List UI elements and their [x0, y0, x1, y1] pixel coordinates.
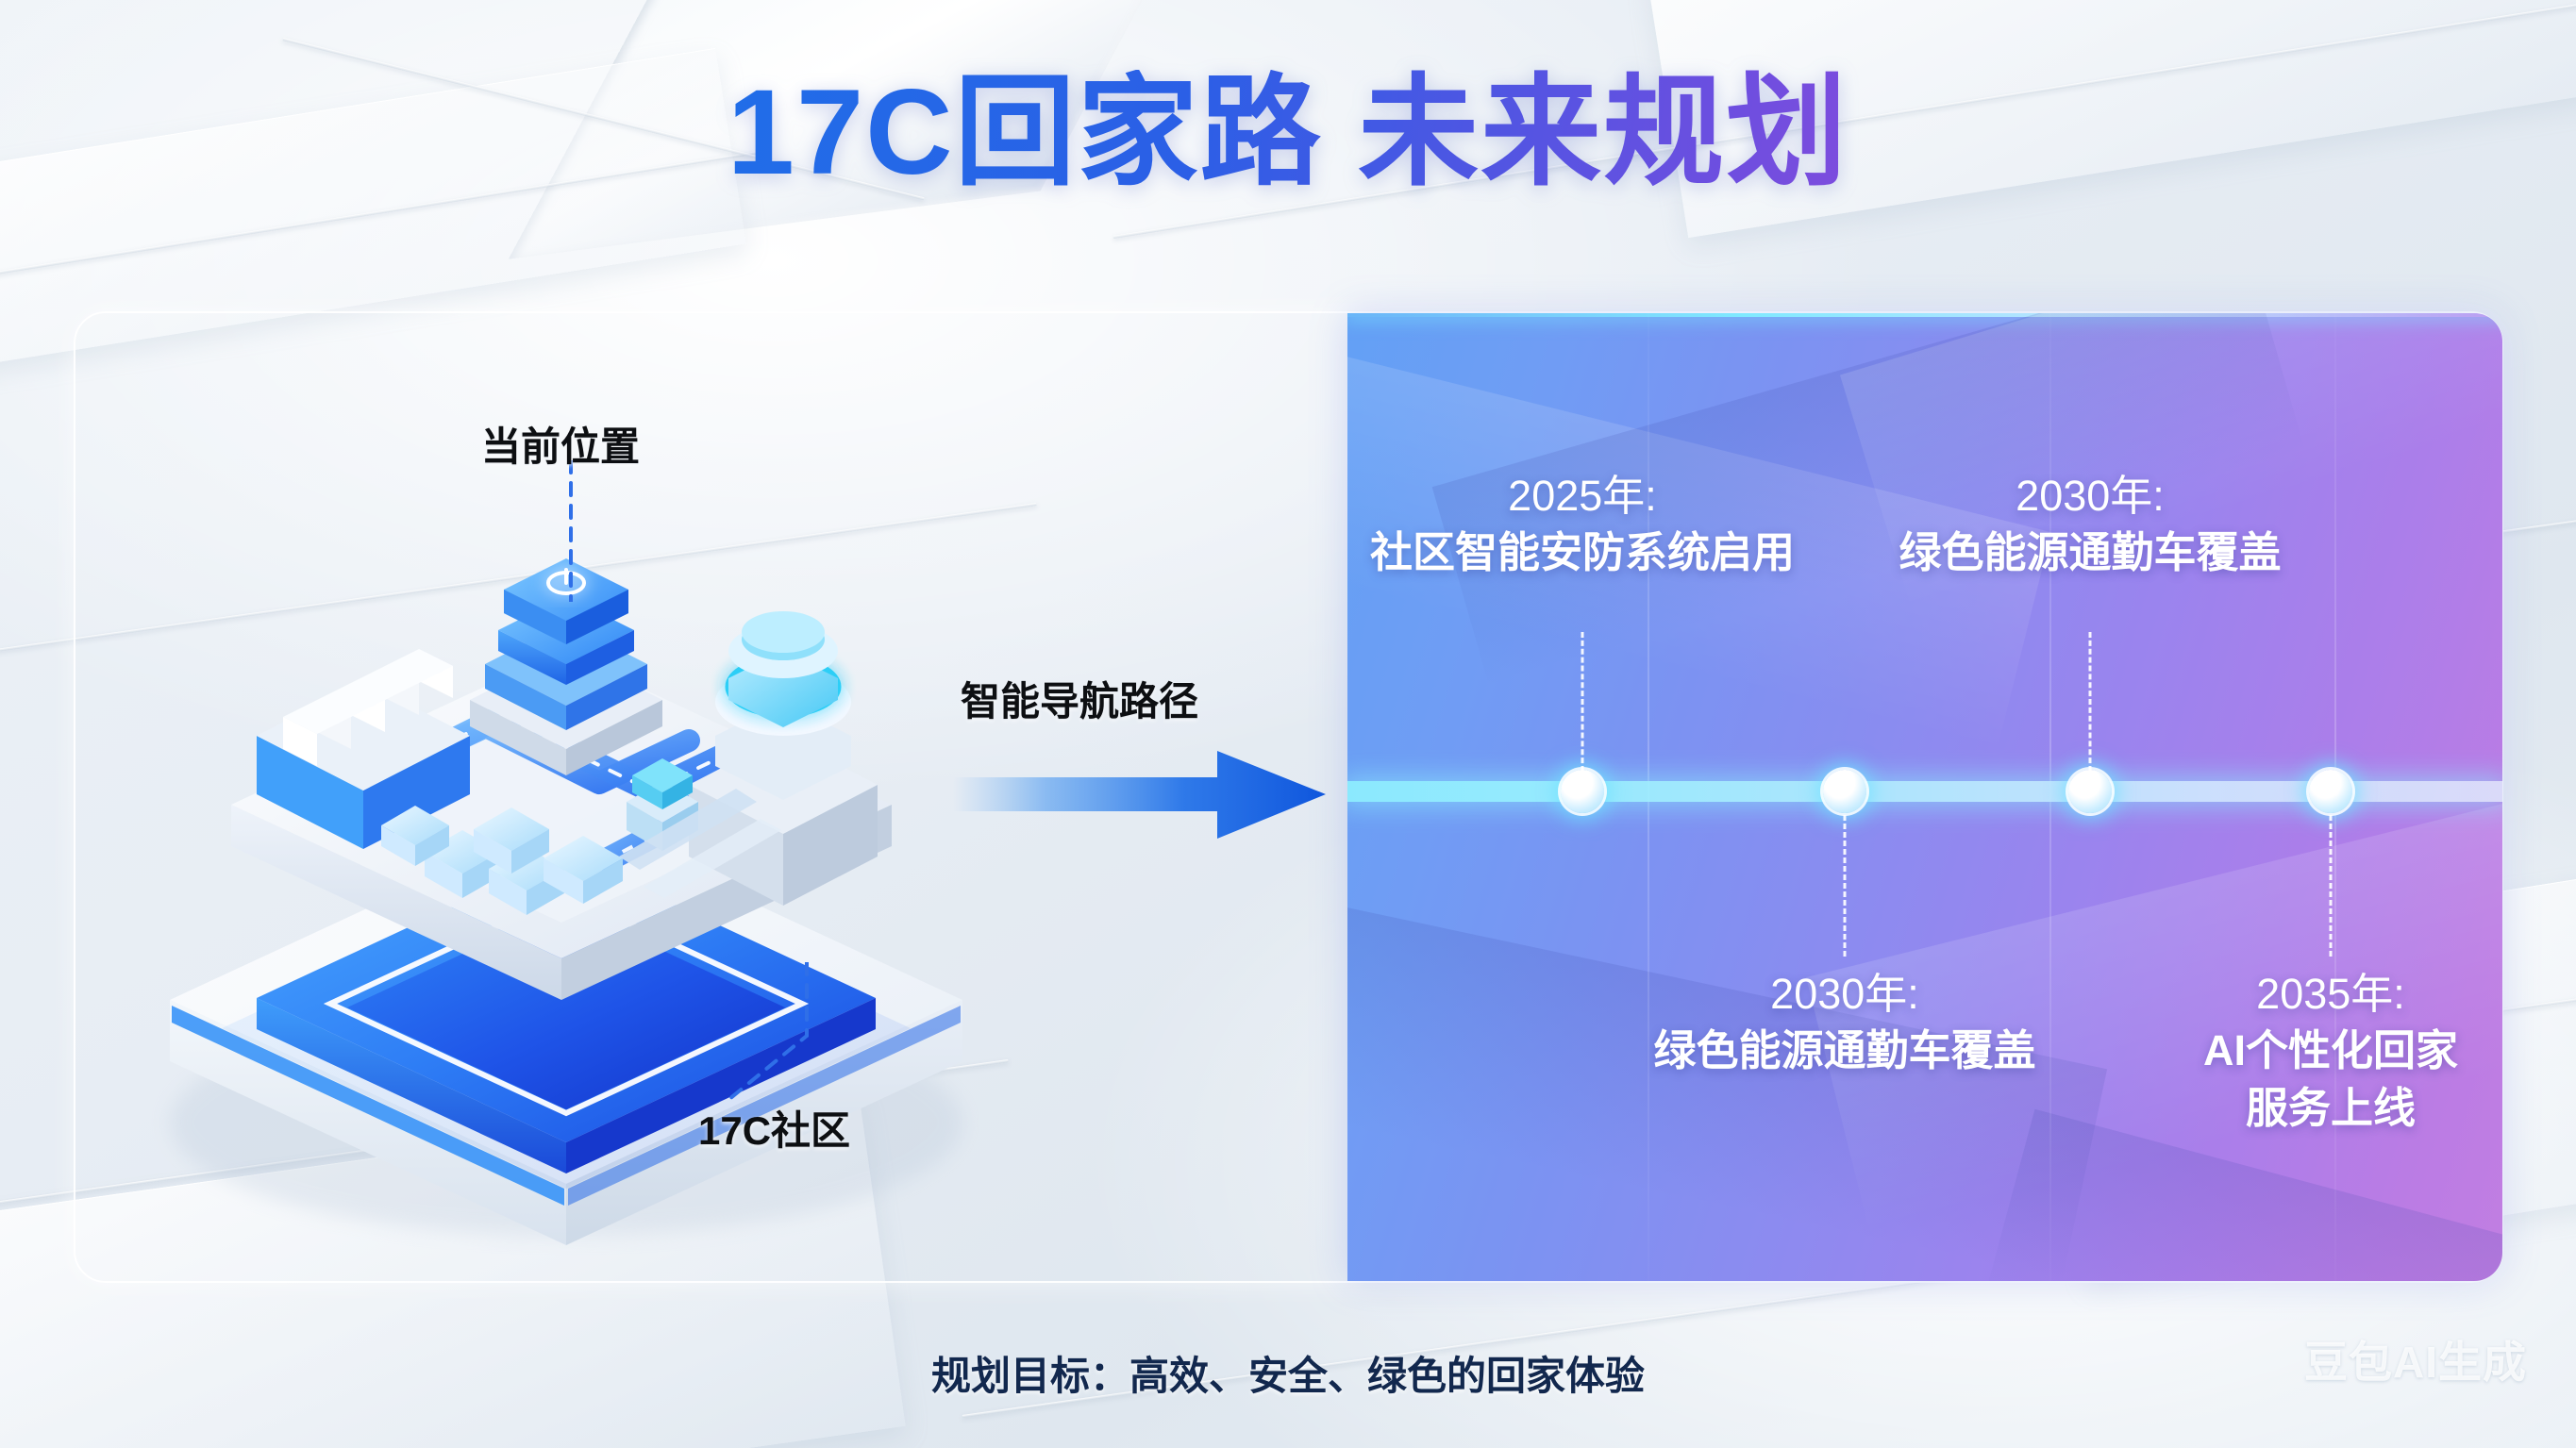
timeline-entry-3-desc: 绿色能源通勤车覆盖 [1899, 524, 2281, 581]
timeline-entry-1-year: 2025年: [1370, 468, 1795, 524]
page-title: 17C回家路 未来规划 [0, 70, 2576, 195]
timeline-node-2[interactable] [1823, 770, 1866, 813]
timeline-node-3[interactable] [2068, 770, 2112, 813]
label-current-location: 当前位置 [481, 415, 640, 473]
timeline-node-4[interactable] [2309, 770, 2352, 813]
arrow-right-icon [953, 745, 1326, 844]
timeline-entry-4-desc-line1: AI个性化回家 [2203, 1023, 2458, 1079]
timeline-entry-1-desc-line1: 社区智能安防系统启用 [1370, 524, 1795, 581]
label-nav-path: 智能导航路径 [961, 670, 1198, 727]
timeline-entry-1: 2025年: 社区智能安防系统启用 [1370, 468, 1795, 582]
timeline-entry-4-desc-line2: 服务上线 [2203, 1080, 2458, 1137]
timeline-stem-2 [1844, 815, 1847, 957]
background-stage: 17C回家路 未来规划 [0, 0, 2576, 1448]
label-community: 17C社区 [698, 1099, 850, 1157]
timeline-entry-2-desc: 绿色能源通勤车覆盖 [1653, 1023, 2035, 1079]
community-3d-illustration [85, 340, 1038, 1245]
timeline-entry-2-desc-line1: 绿色能源通勤车覆盖 [1653, 1023, 2035, 1079]
timeline-entry-4: 2035年: AI个性化回家 服务上线 [2203, 966, 2458, 1137]
timeline-entry-2-year: 2030年: [1653, 966, 2035, 1023]
timeline-entry-3-desc-line1: 绿色能源通勤车覆盖 [1899, 524, 2281, 581]
timeline-panel: 2025年: 社区智能安防系统启用 2030年: 绿色能源通勤车覆盖 2030年… [1347, 313, 2502, 1281]
timeline-entry-4-desc: AI个性化回家 服务上线 [2203, 1023, 2458, 1137]
timeline-entry-3: 2030年: 绿色能源通勤车覆盖 [1899, 468, 2281, 582]
timeline-stem-4 [2330, 815, 2333, 957]
timeline-entry-4-year: 2035年: [2203, 966, 2458, 1023]
timeline-stem-1 [1581, 632, 1584, 772]
timeline-stem-3 [2089, 632, 2092, 772]
timeline-entry-3-year: 2030年: [1899, 468, 2281, 524]
timeline-entry-2: 2030年: 绿色能源通勤车覆盖 [1653, 966, 2035, 1080]
footer-goal-text: 规划目标：高效、安全、绿色的回家体验 [0, 1344, 2576, 1402]
timeline-node-1[interactable] [1561, 770, 1604, 813]
timeline-entry-1-desc: 社区智能安防系统启用 [1370, 524, 1795, 581]
panel-facet-4 [1347, 901, 2107, 1281]
watermark: 豆包AI生成 [2304, 1328, 2527, 1390]
